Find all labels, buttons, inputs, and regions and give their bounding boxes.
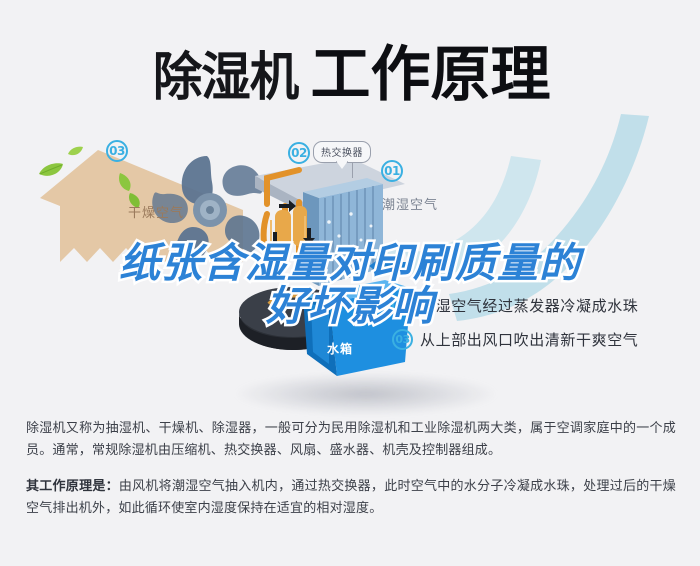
label-humid-air: 潮湿空气: [382, 194, 438, 213]
legend-item: 03 从上部出风口吹出清新干爽空气: [392, 322, 692, 356]
legend-item: 02 潮湿空气经过蒸发器冷凝成水珠: [392, 288, 692, 322]
label-dry-air: 干燥空气: [128, 202, 184, 221]
infographic-page: 除湿机工作原理: [0, 0, 700, 566]
body-copy: 除湿机又称为抽湿机、干燥机、除湿器，一般可分为民用除湿机和工业除湿机两大类，属于…: [26, 418, 676, 520]
legend-text-03: 从上部出风口吹出清新干爽空气: [420, 329, 638, 350]
callout-stem: [352, 162, 353, 178]
paragraph-principle-rest: 由风机将潮湿空气抽入机内，通过热交换器，此时空气中的水分子冷凝成水珠，处理过后的…: [26, 479, 676, 516]
title-part-one: 除湿机: [153, 35, 298, 110]
badge-dry-air: 03: [106, 140, 128, 162]
leaf-icon: [38, 162, 64, 178]
legend-list: 02 潮湿空气经过蒸发器冷凝成水珠 03 从上部出风口吹出清新干爽空气: [392, 288, 692, 356]
leaf-icon: [68, 146, 83, 157]
badge-humid-air: 01: [381, 160, 403, 182]
legend-badge-02: 02: [392, 295, 413, 316]
leaf-icon: [117, 172, 133, 192]
paragraph-principle: 其工作原理是：由风机将潮湿空气抽入机内，通过热交换器，此时空气中的水分子冷凝成水…: [26, 476, 676, 520]
paragraph-definition: 除湿机又称为抽湿机、干燥机、除湿器，一般可分为民用除湿机和工业除湿机两大类，属于…: [26, 418, 676, 462]
legend-text-02: 潮湿空气经过蒸发器冷凝成水珠: [420, 295, 638, 316]
dehumidifier-diagram: 热交换器 03 02 01 干燥空气 潮湿空气 水箱: [0, 118, 700, 403]
title-part-two: 工作原理: [311, 26, 551, 113]
paragraph-principle-lead: 其工作原理是：: [26, 479, 119, 494]
badge-heat-exchanger: 02: [288, 142, 310, 164]
label-water-tank: 水箱: [327, 340, 353, 357]
page-title: 除湿机工作原理: [0, 26, 700, 113]
callout-heat-exchanger: 热交换器: [313, 141, 371, 163]
legend-badge-03: 03: [392, 329, 413, 350]
